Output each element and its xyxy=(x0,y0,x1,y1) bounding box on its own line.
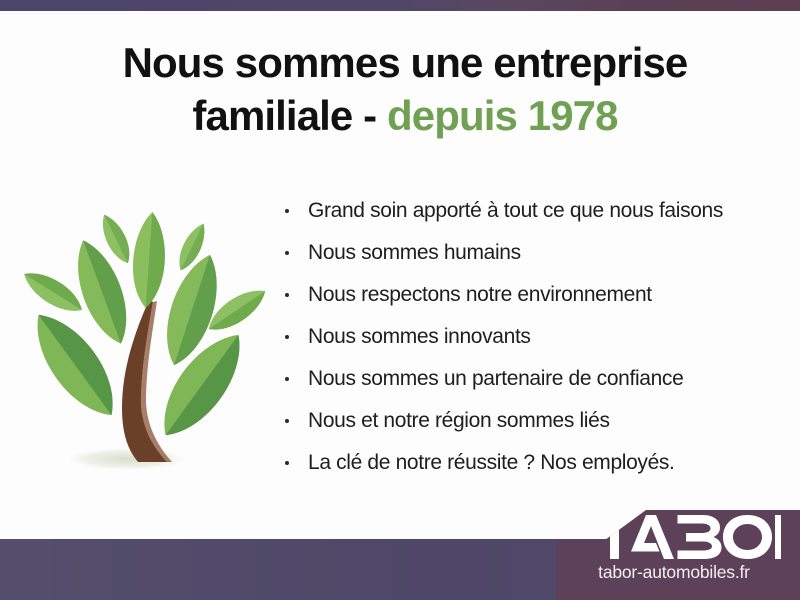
tree-svg xyxy=(12,182,268,488)
headline-line-2-plain: familiale - xyxy=(192,92,376,139)
list-item-label: Nous sommes innovants xyxy=(308,325,531,348)
brand-logo-lockup: tabor-automobiles.fr xyxy=(556,510,800,600)
headline-line-1: Nous sommes une entreprise xyxy=(123,39,688,86)
brand-logo-panel: tabor-automobiles.fr xyxy=(556,510,800,600)
bullet-dot-icon xyxy=(285,377,289,381)
list-item: Nous respectons notre environnement xyxy=(282,274,782,316)
tree-illustration xyxy=(12,182,268,488)
headline-accent-depuis-1978: depuis 1978 xyxy=(387,92,618,139)
top-accent-bar xyxy=(0,0,800,11)
bullet-dot-icon xyxy=(285,293,289,297)
slide-canvas: Nous sommes une entreprise familiale - d… xyxy=(0,0,800,600)
list-item: Nous sommes humains xyxy=(282,232,782,274)
bullet-dot-icon xyxy=(285,419,289,423)
list-item-label: Nous sommes un partenaire de confiance xyxy=(308,367,683,390)
bullet-dot-icon xyxy=(285,335,289,339)
bullet-dot-icon xyxy=(285,251,289,255)
list-item: La clé de notre réussite ? Nos employés. xyxy=(282,442,782,484)
list-item: Nous sommes un partenaire de confiance xyxy=(282,358,782,400)
list-item-label: Nous et notre région sommes liés xyxy=(308,409,610,432)
list-item-label: Nous respectons notre environnement xyxy=(308,283,652,306)
brand-website-url: tabor-automobiles.fr xyxy=(556,562,792,583)
list-item-label: Grand soin apporté à tout ce que nous fa… xyxy=(308,199,723,222)
list-item: Nous et notre région sommes liés xyxy=(282,400,782,442)
list-item-label: Nous sommes humains xyxy=(308,241,521,264)
value-proposition-list: Grand soin apporté à tout ce que nous fa… xyxy=(282,190,782,484)
tabor-wordmark-icon xyxy=(596,515,781,559)
bullet-dot-icon xyxy=(285,209,289,213)
bullet-dot-icon xyxy=(285,461,289,465)
page-title: Nous sommes une entreprise familiale - d… xyxy=(60,36,750,143)
list-item: Grand soin apporté à tout ce que nous fa… xyxy=(282,190,782,232)
list-item-label: La clé de notre réussite ? Nos employés. xyxy=(308,451,675,474)
list-item: Nous sommes innovants xyxy=(282,316,782,358)
tree-trunk xyxy=(122,300,172,462)
